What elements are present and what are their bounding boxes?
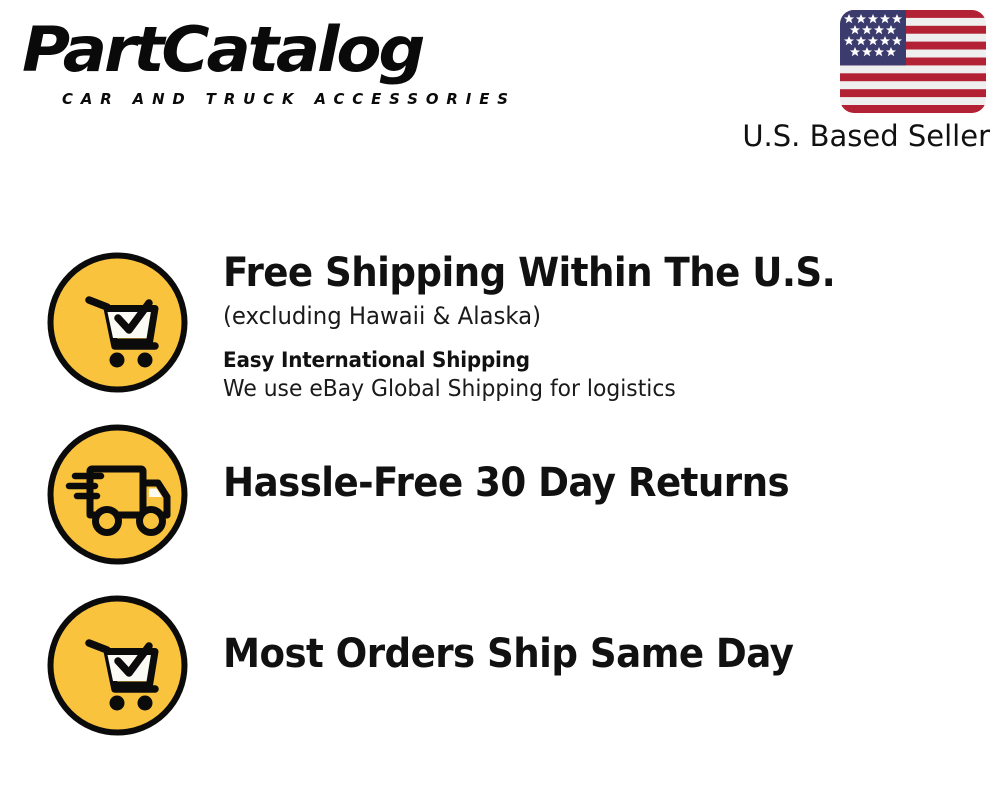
feature-text: Free Shipping Within The U.S. (excluding…: [223, 250, 963, 404]
feature-row: Free Shipping Within The U.S. (excluding…: [0, 250, 1000, 420]
delivery-truck-icon: [45, 422, 190, 567]
feature-subline: (excluding Hawaii & Alaska): [223, 300, 926, 332]
feature-row: Most Orders Ship Same Day: [0, 593, 1000, 763]
us-based-seller-label: U.S. Based Seller: [728, 119, 990, 153]
brand-wordmark: PartCatalog: [22, 18, 520, 82]
brand-tagline: CAR AND TRUCK ACCESSORIES: [62, 90, 516, 108]
feature-text: Most Orders Ship Same Day: [223, 593, 963, 677]
feature-headline: Most Orders Ship Same Day: [223, 631, 911, 677]
feature-headline: Hassle-Free 30 Day Returns: [223, 460, 911, 506]
feature-subhead-note: We use eBay Global Shipping for logistic…: [223, 374, 926, 404]
shopping-cart-check-icon: [45, 593, 190, 738]
us-flag-icon: [840, 10, 986, 113]
brand-logo[interactable]: PartCatalog CAR AND TRUCK ACCESSORIES: [22, 18, 492, 113]
feature-row: Hassle-Free 30 Day Returns: [0, 422, 1000, 592]
feature-headline: Free Shipping Within The U.S.: [223, 250, 911, 296]
shopping-cart-check-icon: [45, 250, 190, 395]
page-header: PartCatalog CAR AND TRUCK ACCESSORIES: [0, 0, 1000, 170]
feature-text: Hassle-Free 30 Day Returns: [223, 422, 963, 506]
feature-subhead: Easy International Shipping: [223, 346, 926, 374]
